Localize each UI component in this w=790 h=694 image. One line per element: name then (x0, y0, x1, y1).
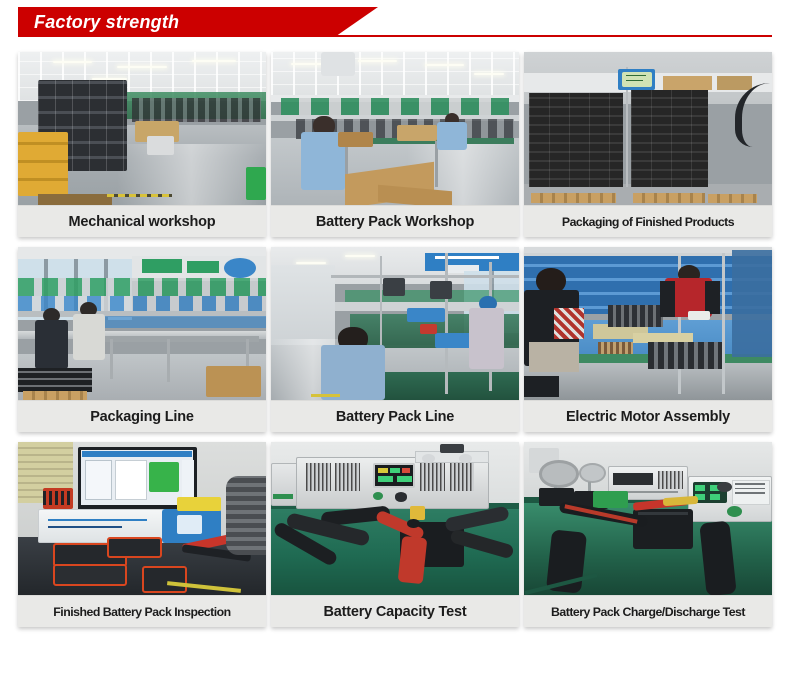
gallery-card-mechanical-workshop[interactable]: Mechanical workshop (18, 52, 266, 237)
gallery-card-electric-motor-assembly[interactable]: Electric Motor Assembly (524, 247, 772, 432)
header-banner: Factory strength (18, 7, 378, 37)
page-title: Factory strength (18, 12, 179, 33)
caption-text: Finished Battery Pack Inspection (53, 605, 230, 619)
photo-battery-pack-line (271, 247, 519, 400)
caption-battery-capacity-test: Battery Capacity Test (271, 595, 519, 627)
gallery-card-battery-capacity-test[interactable]: Battery Capacity Test (271, 442, 519, 627)
caption-text: Mechanical workshop (69, 214, 216, 230)
caption-text: Battery Pack Workshop (316, 214, 474, 230)
caption-text: Packaging Line (90, 409, 194, 425)
gallery-card-battery-charge-discharge[interactable]: Battery Pack Charge/Discharge Test (524, 442, 772, 627)
caption-battery-pack-workshop: Battery Pack Workshop (271, 205, 519, 237)
caption-text: Packaging of Finished Products (562, 215, 734, 229)
photo-packaging-finished-products (524, 52, 772, 205)
caption-electric-motor-assembly: Electric Motor Assembly (524, 400, 772, 432)
caption-battery-pack-line: Battery Pack Line (271, 400, 519, 432)
caption-packaging-finished-products: Packaging of Finished Products (524, 205, 772, 237)
caption-packaging-line: Packaging Line (18, 400, 266, 432)
gallery-card-battery-pack-workshop[interactable]: Battery Pack Workshop (271, 52, 519, 237)
caption-mechanical-workshop: Mechanical workshop (18, 205, 266, 237)
photo-electric-motor-assembly (524, 247, 772, 400)
gallery-card-finished-battery-inspection[interactable]: Finished Battery Pack Inspection (18, 442, 266, 627)
caption-text: Battery Pack Line (336, 409, 454, 425)
photo-battery-capacity-test (271, 442, 519, 595)
gallery-card-packaging-finished-products[interactable]: Packaging of Finished Products (524, 52, 772, 237)
photo-battery-charge-discharge (524, 442, 772, 595)
page-header: Factory strength (0, 0, 790, 46)
caption-text: Battery Capacity Test (323, 604, 466, 620)
header-underline (18, 35, 772, 37)
factory-gallery-grid: Mechanical workshop (0, 46, 790, 627)
photo-battery-pack-workshop (271, 52, 519, 205)
caption-text: Battery Pack Charge/Discharge Test (551, 605, 745, 619)
caption-finished-battery-inspection: Finished Battery Pack Inspection (18, 595, 266, 627)
photo-finished-battery-inspection (18, 442, 266, 595)
caption-text: Electric Motor Assembly (566, 409, 730, 425)
caption-battery-charge-discharge: Battery Pack Charge/Discharge Test (524, 595, 772, 627)
gallery-card-battery-pack-line[interactable]: Battery Pack Line (271, 247, 519, 432)
photo-packaging-line (18, 247, 266, 400)
gallery-card-packaging-line[interactable]: Packaging Line (18, 247, 266, 432)
photo-mechanical-workshop (18, 52, 266, 205)
